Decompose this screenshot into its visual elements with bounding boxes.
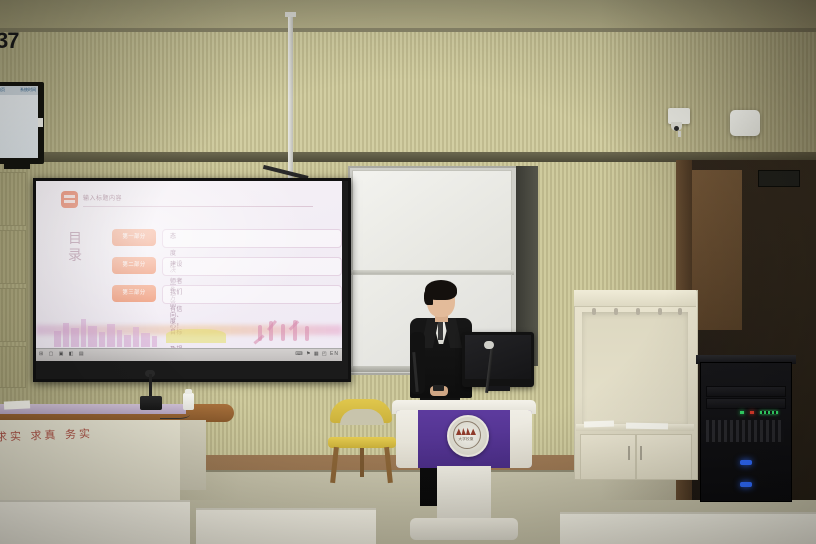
slide-toc-tag: 第一部分 xyxy=(112,229,156,246)
desk-mic-base[interactable] xyxy=(140,396,162,410)
front-table xyxy=(560,512,816,544)
skyline-building xyxy=(117,330,122,347)
exit-sign: 安全 出口 xyxy=(758,170,800,187)
projected-slide[interactable]: 输入标题内容 目 录 第一部分 态度决定高度 第二部分 建设师者方向、目标及规划… xyxy=(36,181,342,361)
desk-cable xyxy=(160,408,190,419)
skyline-building xyxy=(107,324,115,347)
slide-toc-box xyxy=(162,285,342,304)
wall-monitor-stand xyxy=(4,164,30,169)
university-emblem-text: 大学校徽 xyxy=(452,437,480,442)
ceiling-pole xyxy=(288,14,293,186)
windows-taskbar[interactable]: ⊞ ▢ ▣ ◧ ▤ ⌨ ⚑ ▦ ◰ EN xyxy=(36,348,342,361)
celebrating-figure xyxy=(281,324,285,341)
slide-header-rule xyxy=(83,206,313,207)
cabinet-handle-left[interactable] xyxy=(628,446,630,460)
slide-skyline-decoration xyxy=(36,303,342,347)
coat-hook-icon[interactable] xyxy=(658,308,662,315)
sanitizer-pump-cap[interactable] xyxy=(185,389,192,394)
wall-monitor-side-tab xyxy=(38,118,43,127)
chair-leg xyxy=(360,447,364,477)
desk-paper-sheet xyxy=(4,400,30,409)
rack-slot xyxy=(706,386,786,397)
wall-monitor-screen[interactable]: 首页 系统时间 xyxy=(0,86,38,158)
skyline-building xyxy=(133,327,139,347)
coat-hook-icon[interactable] xyxy=(614,308,618,315)
classroom-scene: 安全 出口 首页 系统时间 37 输入标题内容 目 录 第一部分 态度决定高度 xyxy=(0,0,816,544)
taskbar-system-tray[interactable]: ⌨ ⚑ ▦ ◰ EN xyxy=(295,351,339,357)
instructor-desk-side xyxy=(180,420,206,490)
coat-hook-icon[interactable] xyxy=(592,308,596,315)
lectern-side-left xyxy=(396,410,418,468)
rack-led-bank-green xyxy=(760,411,778,414)
skyline-building xyxy=(152,336,157,347)
desk-mic-stem xyxy=(149,374,152,398)
whiteboard-upper-panel[interactable] xyxy=(352,170,512,272)
coat-hook-icon[interactable] xyxy=(636,308,640,315)
skyline-grass xyxy=(166,329,226,343)
skyline-building xyxy=(71,328,79,347)
paper-sheet xyxy=(584,420,614,427)
cabinet-handle-right[interactable] xyxy=(640,446,642,460)
podium-monitor-screen[interactable] xyxy=(465,335,531,379)
wall-monitor-left-label: 首页 xyxy=(0,87,5,93)
front-table xyxy=(196,508,376,544)
podium-monitor-stand xyxy=(486,386,510,391)
coat-hook-icon[interactable] xyxy=(678,308,682,315)
raised-arm xyxy=(253,334,264,344)
rack-led-blue xyxy=(740,460,752,465)
slide-toc-text: 我们有信心！ xyxy=(170,285,183,302)
visitor-chair-back-inner xyxy=(340,409,384,425)
rack-slot xyxy=(706,398,786,409)
skyline-building xyxy=(54,331,61,347)
slide-badge-logo-icon xyxy=(61,191,78,208)
rack-led-blue xyxy=(740,482,752,487)
university-emblem-ring xyxy=(453,421,481,449)
taskbar-left-icons[interactable]: ⊞ ▢ ▣ ◧ ▤ xyxy=(39,351,86,357)
skyline-building xyxy=(63,323,69,347)
rack-led-green xyxy=(740,411,744,414)
presenter-hair-side xyxy=(424,289,433,305)
wall-monitor-right-label: 系统时间 xyxy=(20,87,36,93)
gooseneck-mic-head-icon xyxy=(484,341,494,349)
lectern-column xyxy=(437,466,491,520)
ceiling-pole-cap xyxy=(285,12,296,17)
slide-toc-text: 建设师者方向、目标及规划 xyxy=(170,257,183,274)
presenter-clicker xyxy=(433,385,444,391)
camera-mount xyxy=(678,131,681,137)
cabinet-recess xyxy=(582,312,688,424)
wall-calligraphy-text: 求实 求真 务实 xyxy=(0,425,93,444)
rack-vent-grille xyxy=(706,420,784,442)
slide-toc-title: 目 录 xyxy=(64,231,86,265)
lectern-side-right xyxy=(510,410,532,468)
celebrating-figure xyxy=(305,326,309,341)
skyline-building xyxy=(99,332,105,347)
slide-toc-text: 态度决定高度 xyxy=(170,229,176,246)
cabinet-door-right[interactable] xyxy=(636,434,692,480)
wifi-access-point-icon xyxy=(730,110,760,136)
slide-toc-box xyxy=(162,229,342,248)
slide-toc-box xyxy=(162,257,342,276)
skyline-building xyxy=(141,333,150,347)
skyline-building xyxy=(88,326,97,347)
presenter-tie xyxy=(438,322,443,340)
cabinet-header xyxy=(574,290,696,307)
lectern-base xyxy=(410,518,518,540)
skyline-building xyxy=(124,335,131,347)
rack-led-red xyxy=(750,411,754,414)
paper-sheet xyxy=(626,423,668,430)
skyline-building xyxy=(81,319,86,347)
slide-header-text: 输入标题内容 xyxy=(83,193,122,202)
front-table xyxy=(0,500,190,544)
slide-toc-tag: 第三部分 xyxy=(112,285,156,302)
wall-monitor-number: 37 xyxy=(0,28,18,54)
slide-toc-tag: 第二部分 xyxy=(112,257,156,274)
